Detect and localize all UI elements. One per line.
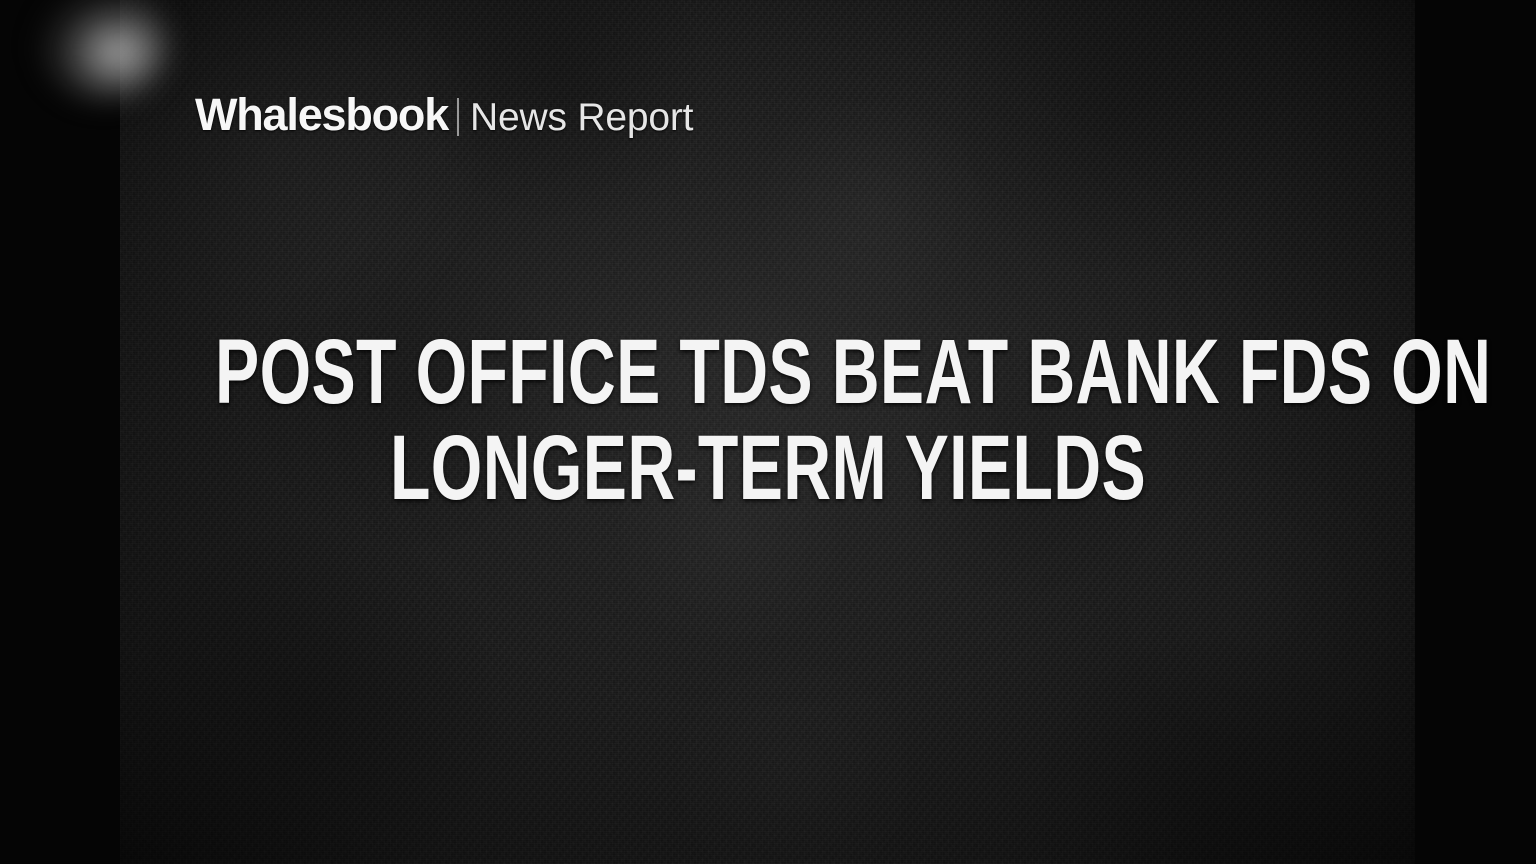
brand-name: Whalesbook <box>195 92 448 137</box>
headline-line-2: LONGER-TERM YIELDS <box>215 420 1321 516</box>
brand-tagline: News Report <box>470 98 693 137</box>
card-content: Whalesbook News Report POST OFFICE TDS B… <box>0 0 1536 864</box>
brand-lockup: Whalesbook News Report <box>195 92 693 137</box>
brand-divider <box>457 98 459 136</box>
headline-line-1: POST OFFICE TDS BEAT BANK FDS ON <box>215 324 1321 420</box>
headline: POST OFFICE TDS BEAT BANK FDS ON LONGER-… <box>0 324 1536 516</box>
news-card-stage: Whalesbook News Report POST OFFICE TDS B… <box>0 0 1536 864</box>
